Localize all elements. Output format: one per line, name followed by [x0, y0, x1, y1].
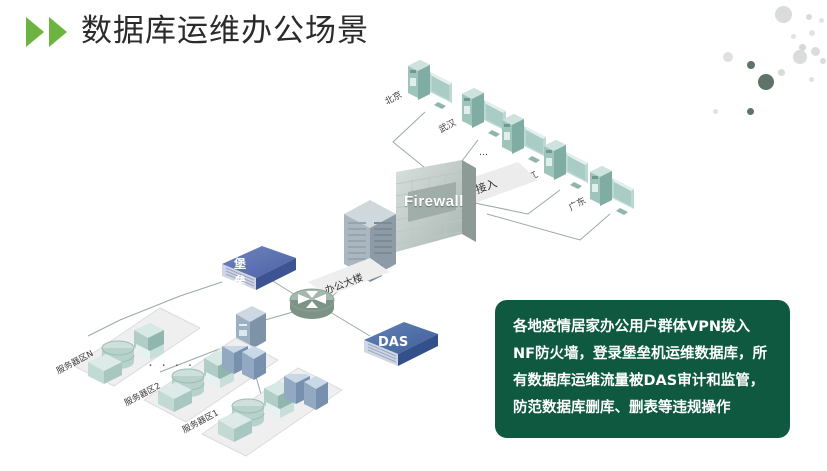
bastion-host-label: 堡垒机 — [234, 255, 246, 306]
server-zone-1-icons[interactable] — [206, 374, 332, 454]
remote-client-beijing[interactable] — [398, 58, 456, 110]
das-label: DAS — [378, 335, 408, 350]
router-icon[interactable] — [288, 286, 336, 326]
remote-client-more-label: … — [479, 148, 488, 158]
description-box: 各地疫情居家办公用户群体VPN拨入NF防火墙，登录堡垒机运维数据库，所有数据库运… — [495, 300, 790, 438]
remote-client-guangdong[interactable] — [580, 164, 638, 216]
firewall-label: Firewall — [404, 193, 464, 210]
description-text: 各地疫情居家办公用户群体VPN拨入NF防火墙，登录堡垒机运维数据库，所有数据库运… — [513, 314, 772, 422]
slide-canvas: 数据库运维办公场景 — [0, 0, 827, 471]
